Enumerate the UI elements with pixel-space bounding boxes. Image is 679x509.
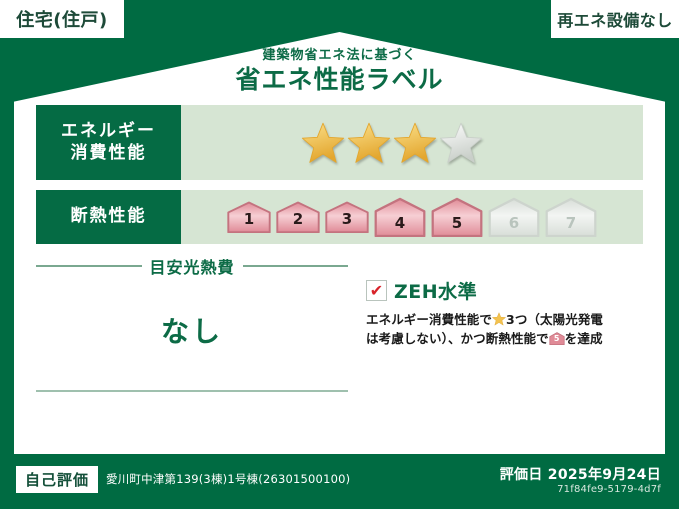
insulation-level-label-4: 4: [395, 216, 405, 235]
star-icon-inline: [492, 312, 506, 326]
footer: 自己評価 愛川町中津第139(3棟)1号棟(26301500100) 評価日 2…: [0, 454, 679, 509]
label-panel: 建築物省エネ法に基づく 省エネ性能ラベル エネルギー 消費性能 断熱性能: [14, 32, 665, 454]
energy-label-line2: 消費性能: [71, 143, 147, 164]
zeh-desc-part3: を達成: [565, 331, 603, 346]
house-icon-inline: 5: [549, 332, 565, 345]
zeh-title-row: ✔ ZEH水準: [366, 277, 647, 304]
utility-cost-heading: 目安光熱費: [36, 254, 348, 278]
insulation-level-label-6: 6: [509, 216, 519, 235]
insulation-level-label-7: 7: [566, 216, 576, 235]
insulation-level-1: 1: [226, 201, 272, 233]
insulation-level-label-5: 5: [452, 216, 462, 235]
panel-header: 建築物省エネ法に基づく 省エネ性能ラベル: [14, 49, 665, 94]
zeh-section: ✔ ZEH水準 エネルギー消費性能で 3つ（太陽光発電 は考慮しない）、かつ断熱…: [366, 277, 647, 349]
label-subtitle: 建築物省エネ法に基づく: [14, 49, 665, 63]
energy-star-rating: [181, 105, 643, 180]
insulation-level-3: 3: [324, 201, 370, 233]
property-name: 愛川町中津第139(3棟)1号棟(26301500100): [106, 471, 350, 487]
energy-label-line1: エネルギー: [61, 121, 156, 142]
insulation-level-7: 7: [544, 197, 598, 237]
zeh-desc-house-level: 5: [549, 333, 565, 345]
star-icon-empty: [439, 121, 483, 165]
zeh-desc-part1: エネルギー消費性能で: [366, 312, 492, 327]
page-title: 省エネ性能ラベル: [14, 66, 665, 94]
check-icon: ✔: [366, 280, 387, 301]
evaluation-date: 評価日 2025年9月24日: [500, 464, 661, 484]
insulation-label-text: 断熱性能: [71, 206, 147, 227]
insulation-level-label-1: 1: [244, 212, 254, 231]
insulation-level-label-3: 3: [342, 212, 352, 231]
badge-dwelling-type: 住宅(住戸): [0, 0, 124, 38]
insulation-performance-label: 断熱性能: [36, 190, 181, 244]
insulation-level-6: 6: [487, 197, 541, 237]
evaluation-id: 71f84fe9-5179-4d7f: [557, 484, 661, 495]
insulation-level-label-2: 2: [293, 212, 303, 231]
star-icon-filled: [301, 121, 345, 165]
utility-cost-section: 目安光熱費 なし: [36, 254, 348, 392]
insulation-level-2: 2: [275, 201, 321, 233]
insulation-level-5: 5: [430, 197, 484, 237]
insulation-performance-row: 断熱性能 1 2 3: [36, 190, 643, 244]
energy-performance-label: エネルギー 消費性能: [36, 105, 181, 180]
zeh-description: エネルギー消費性能で 3つ（太陽光発電 は考慮しない）、かつ断熱性能で 5を達成: [366, 310, 647, 349]
utility-cost-heading-text: 目安光熱費: [150, 254, 235, 278]
zeh-desc-star-count: 3つ（太陽光発電: [506, 312, 603, 327]
utility-cost-underline: [36, 390, 348, 392]
insulation-level-4: 4: [373, 197, 427, 237]
self-evaluation-badge: 自己評価: [16, 466, 98, 493]
badge-renewable-energy: 再エネ設備なし: [551, 0, 679, 38]
heading-rule-left: [36, 265, 142, 267]
zeh-title: ZEH水準: [394, 277, 477, 304]
zeh-desc-part2: は考慮しない）、かつ断熱性能で: [366, 331, 549, 346]
energy-performance-row: エネルギー 消費性能: [36, 105, 643, 180]
heading-rule-right: [243, 265, 349, 267]
utility-cost-value: なし: [36, 310, 348, 350]
insulation-level-scale: 1 2 3 4: [181, 190, 643, 244]
star-icon-filled: [347, 121, 391, 165]
star-icon-filled: [393, 121, 437, 165]
